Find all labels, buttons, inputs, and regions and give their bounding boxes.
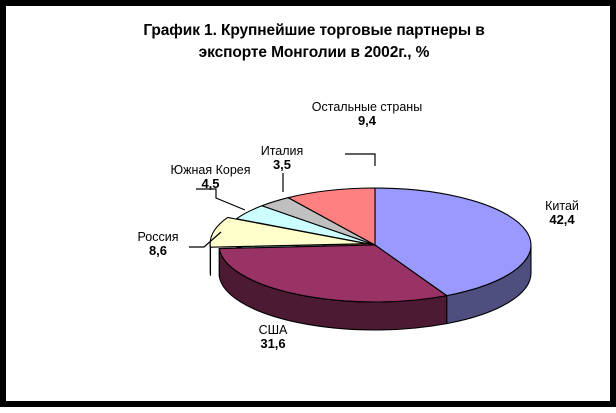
slice-label-russia: Россия 8,6 (124, 230, 192, 259)
slice-label-usa-value: 31,6 (234, 337, 312, 352)
slice-label-china: Китай 42,4 (527, 199, 597, 228)
pie-chart-graphic (6, 6, 616, 413)
slice-label-china-value: 42,4 (527, 213, 597, 228)
slice-label-south-korea-value: 4,5 (158, 177, 263, 192)
slice-label-other-category: Остальные страны (309, 100, 425, 114)
slice-label-usa: США 31,6 (234, 323, 312, 352)
slice-label-italy-category: Италия (251, 144, 313, 158)
slice-label-russia-value: 8,6 (124, 244, 192, 259)
slice-label-south-korea-category: Южная Корея (158, 163, 263, 177)
slice-label-usa-category: США (234, 323, 312, 337)
chart-title: График 1. Крупнейшие торговые партнеры в… (6, 20, 616, 65)
slice-label-other: Остальные страны 9,4 (309, 100, 425, 129)
chart-title-line1: График 1. Крупнейшие торговые партнеры в (6, 20, 616, 42)
slice-label-russia-category: Россия (124, 230, 192, 244)
chart-frame: График 1. Крупнейшие торговые партнеры в… (0, 0, 616, 407)
slice-label-other-value: 9,4 (309, 114, 425, 129)
slice-label-south-korea: Южная Корея 4,5 (158, 163, 263, 192)
leader-line-0 (345, 154, 375, 166)
slice-label-china-category: Китай (527, 199, 597, 213)
chart-title-line2: экспорте Монголии в 2002г., % (6, 42, 616, 64)
leader-line-2 (196, 189, 245, 210)
